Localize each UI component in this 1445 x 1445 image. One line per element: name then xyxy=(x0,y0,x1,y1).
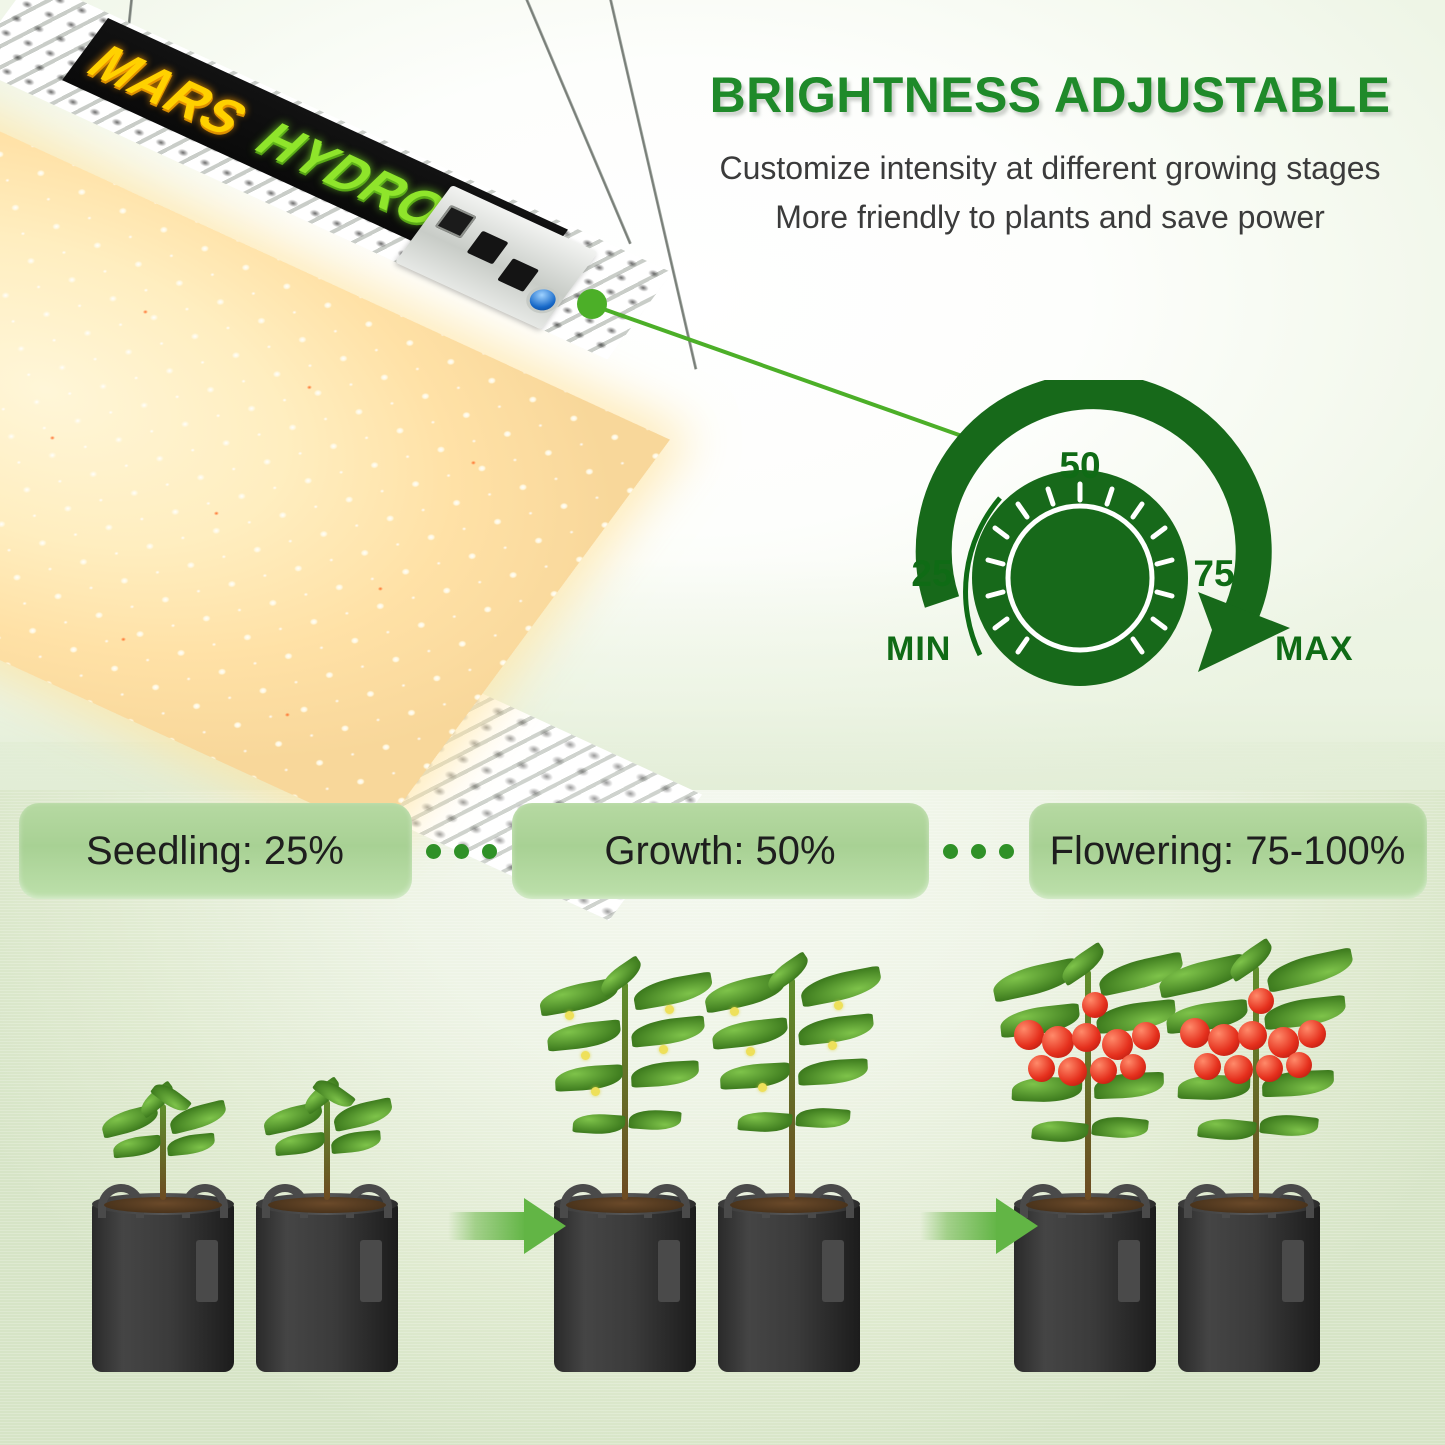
grow-bag-strap xyxy=(658,1240,680,1302)
stage-image-seedling xyxy=(78,1162,448,1372)
stage-pill-flowering[interactable]: Flowering: 75-100% xyxy=(1029,803,1427,899)
dial-label-max: MAX xyxy=(1275,630,1354,669)
heading-block: BRIGHTNESS ADJUSTABLE Customize intensit… xyxy=(660,66,1440,241)
arrow-head xyxy=(996,1198,1038,1254)
separator-dot xyxy=(482,844,497,859)
arrow-shaft xyxy=(448,1212,526,1240)
grow-bag-handle xyxy=(1268,1184,1314,1218)
separator-dot xyxy=(971,844,986,859)
flowering-grow-bags xyxy=(1000,1162,1390,1372)
stage-image-flowering xyxy=(1000,1162,1390,1372)
grow-bag-handle xyxy=(1184,1184,1230,1218)
daisy-chain-port-1[interactable] xyxy=(467,231,509,265)
grow-bag-handle xyxy=(346,1184,392,1218)
separator-dot xyxy=(943,844,958,859)
brand-logo-mars: MARS xyxy=(74,35,264,146)
grow-bag-handle xyxy=(262,1184,308,1218)
grow-bag-handle xyxy=(1104,1184,1150,1218)
arrow-shaft xyxy=(920,1212,998,1240)
stage-pill-seedling-label: Seedling: 25% xyxy=(86,829,344,874)
grow-bag-handle xyxy=(808,1184,854,1218)
dimmer-dial-diagram: 50 25 75 MIN MAX xyxy=(880,380,1370,700)
grow-bag xyxy=(554,1200,696,1372)
grow-bag xyxy=(1178,1200,1320,1372)
pill-separator-dots-2 xyxy=(929,844,1029,859)
dimmer-knob[interactable] xyxy=(525,286,561,315)
grow-bag xyxy=(256,1200,398,1372)
subtitle-line-2: More friendly to plants and save power xyxy=(660,195,1440,240)
growth-stage-pill-row: Seedling: 25% Growth: 50% Flowering: 75-… xyxy=(0,803,1445,899)
grow-bag-handle xyxy=(98,1184,144,1218)
dial-tick-label-50: 50 xyxy=(1059,445,1100,486)
growth-stage-photo-row xyxy=(0,930,1445,1410)
progress-arrow-icon-1 xyxy=(448,1198,568,1254)
grow-bag-handle xyxy=(724,1184,770,1218)
arrow-head xyxy=(524,1198,566,1254)
stage-pill-seedling[interactable]: Seedling: 25% xyxy=(19,803,412,899)
progress-arrow-icon-2 xyxy=(920,1198,1040,1254)
subtitle-line-1: Customize intensity at different growing… xyxy=(660,146,1440,191)
separator-dot xyxy=(999,844,1014,859)
dial-tick-label-25: 25 xyxy=(911,553,952,594)
page-title: BRIGHTNESS ADJUSTABLE xyxy=(660,66,1440,124)
callout-marker-dot xyxy=(577,289,607,319)
separator-dot xyxy=(426,844,441,859)
dial-tick-label-75: 75 xyxy=(1193,553,1234,594)
power-rocker-switch[interactable] xyxy=(435,205,477,239)
grow-bag-strap xyxy=(1118,1240,1140,1302)
grow-bag-strap xyxy=(196,1240,218,1302)
stage-pill-growth-label: Growth: 50% xyxy=(604,829,835,874)
grow-bag xyxy=(92,1200,234,1372)
daisy-chain-port-2[interactable] xyxy=(497,258,539,292)
grow-bag-strap xyxy=(822,1240,844,1302)
dial-knob-cap[interactable] xyxy=(1008,506,1152,650)
separator-dot xyxy=(454,844,469,859)
stage-pill-growth[interactable]: Growth: 50% xyxy=(512,803,929,899)
dial-label-min: MIN xyxy=(886,630,951,669)
pill-separator-dots-1 xyxy=(412,844,512,859)
seedling-grow-bags xyxy=(78,1162,448,1372)
grow-bag-strap xyxy=(360,1240,382,1302)
stage-pill-flowering-label: Flowering: 75-100% xyxy=(1050,829,1406,874)
marketing-image-canvas: MARS HYDRO MARS HYDRO BRIGHTNESS ADJUSTA… xyxy=(0,0,1445,1445)
stage-image-growth xyxy=(540,1162,920,1372)
grow-bag xyxy=(718,1200,860,1372)
growth-grow-bags xyxy=(540,1162,920,1372)
grow-bag-strap xyxy=(1282,1240,1304,1302)
grow-bag-handle xyxy=(644,1184,690,1218)
grow-bag-handle xyxy=(182,1184,228,1218)
